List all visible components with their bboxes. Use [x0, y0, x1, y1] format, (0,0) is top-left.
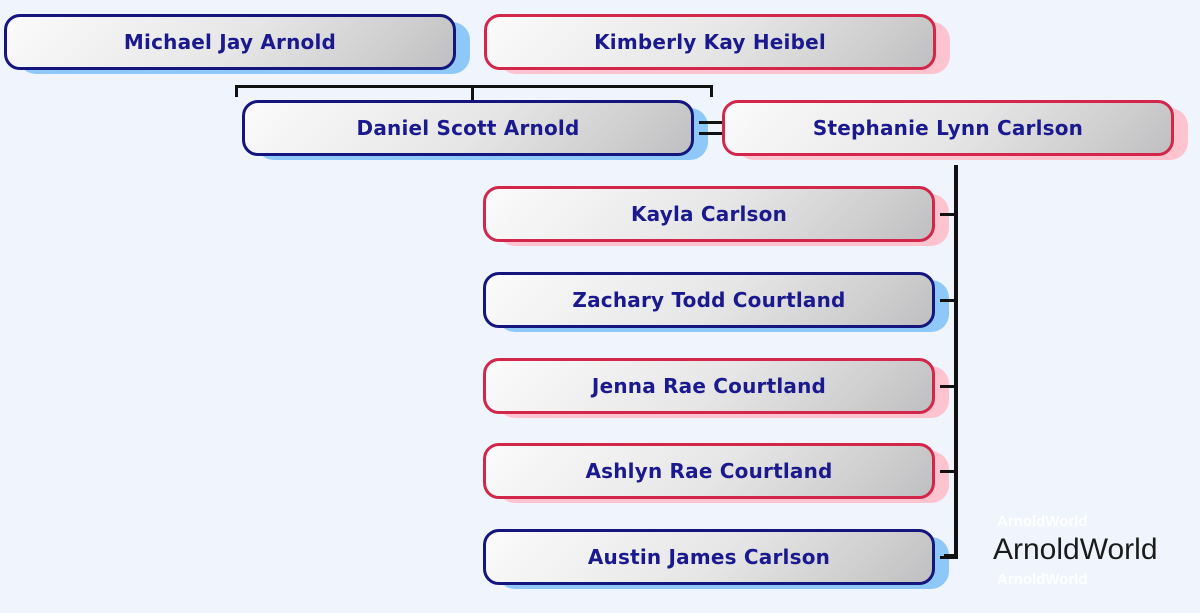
child-stub-2	[940, 299, 958, 302]
children-spine	[954, 165, 958, 557]
person-box-ashlyn-rae-courtland[interactable]: Ashlyn Rae Courtland	[483, 443, 935, 499]
person-name: Kayla Carlson	[631, 202, 787, 226]
person-box-austin-james-carlson[interactable]: Austin James Carlson	[483, 529, 935, 585]
person-box-zachary-todd-courtland[interactable]: Zachary Todd Courtland	[483, 272, 935, 328]
person-name: Zachary Todd Courtland	[572, 288, 845, 312]
person-name: Ashlyn Rae Courtland	[585, 459, 832, 483]
person-name: Michael Jay Arnold	[124, 30, 336, 54]
watermark-label: ArnoldWorld	[993, 533, 1158, 567]
parent-bracket-horizontal	[235, 85, 713, 88]
child-stub-5	[940, 556, 958, 559]
parent-bracket-tick-left	[235, 85, 238, 97]
person-name: Daniel Scott Arnold	[357, 116, 580, 140]
person-box-kayla-carlson[interactable]: Kayla Carlson	[483, 186, 935, 242]
person-box-stephanie-lynn-carlson[interactable]: Stephanie Lynn Carlson	[722, 100, 1174, 156]
watermark-ghost-top: ArnoldWorld	[997, 513, 1088, 530]
person-box-kimberly-kay-heibel[interactable]: Kimberly Kay Heibel	[484, 14, 936, 70]
person-box-daniel-scott-arnold[interactable]: Daniel Scott Arnold	[242, 100, 694, 156]
child-stub-3	[940, 385, 958, 388]
parent-bracket-tick-right	[710, 85, 713, 97]
person-name: Stephanie Lynn Carlson	[813, 116, 1083, 140]
person-name: Jenna Rae Courtland	[592, 374, 826, 398]
family-tree-diagram: Michael Jay Arnold Kimberly Kay Heibel D…	[0, 0, 1200, 613]
child-stub-1	[940, 213, 958, 216]
child-stub-4	[940, 470, 958, 473]
person-name: Austin James Carlson	[588, 545, 830, 569]
person-name: Kimberly Kay Heibel	[594, 30, 826, 54]
watermark-ghost-bottom: ArnoldWorld	[997, 571, 1088, 588]
person-box-michael-jay-arnold[interactable]: Michael Jay Arnold	[4, 14, 456, 70]
person-box-jenna-rae-courtland[interactable]: Jenna Rae Courtland	[483, 358, 935, 414]
